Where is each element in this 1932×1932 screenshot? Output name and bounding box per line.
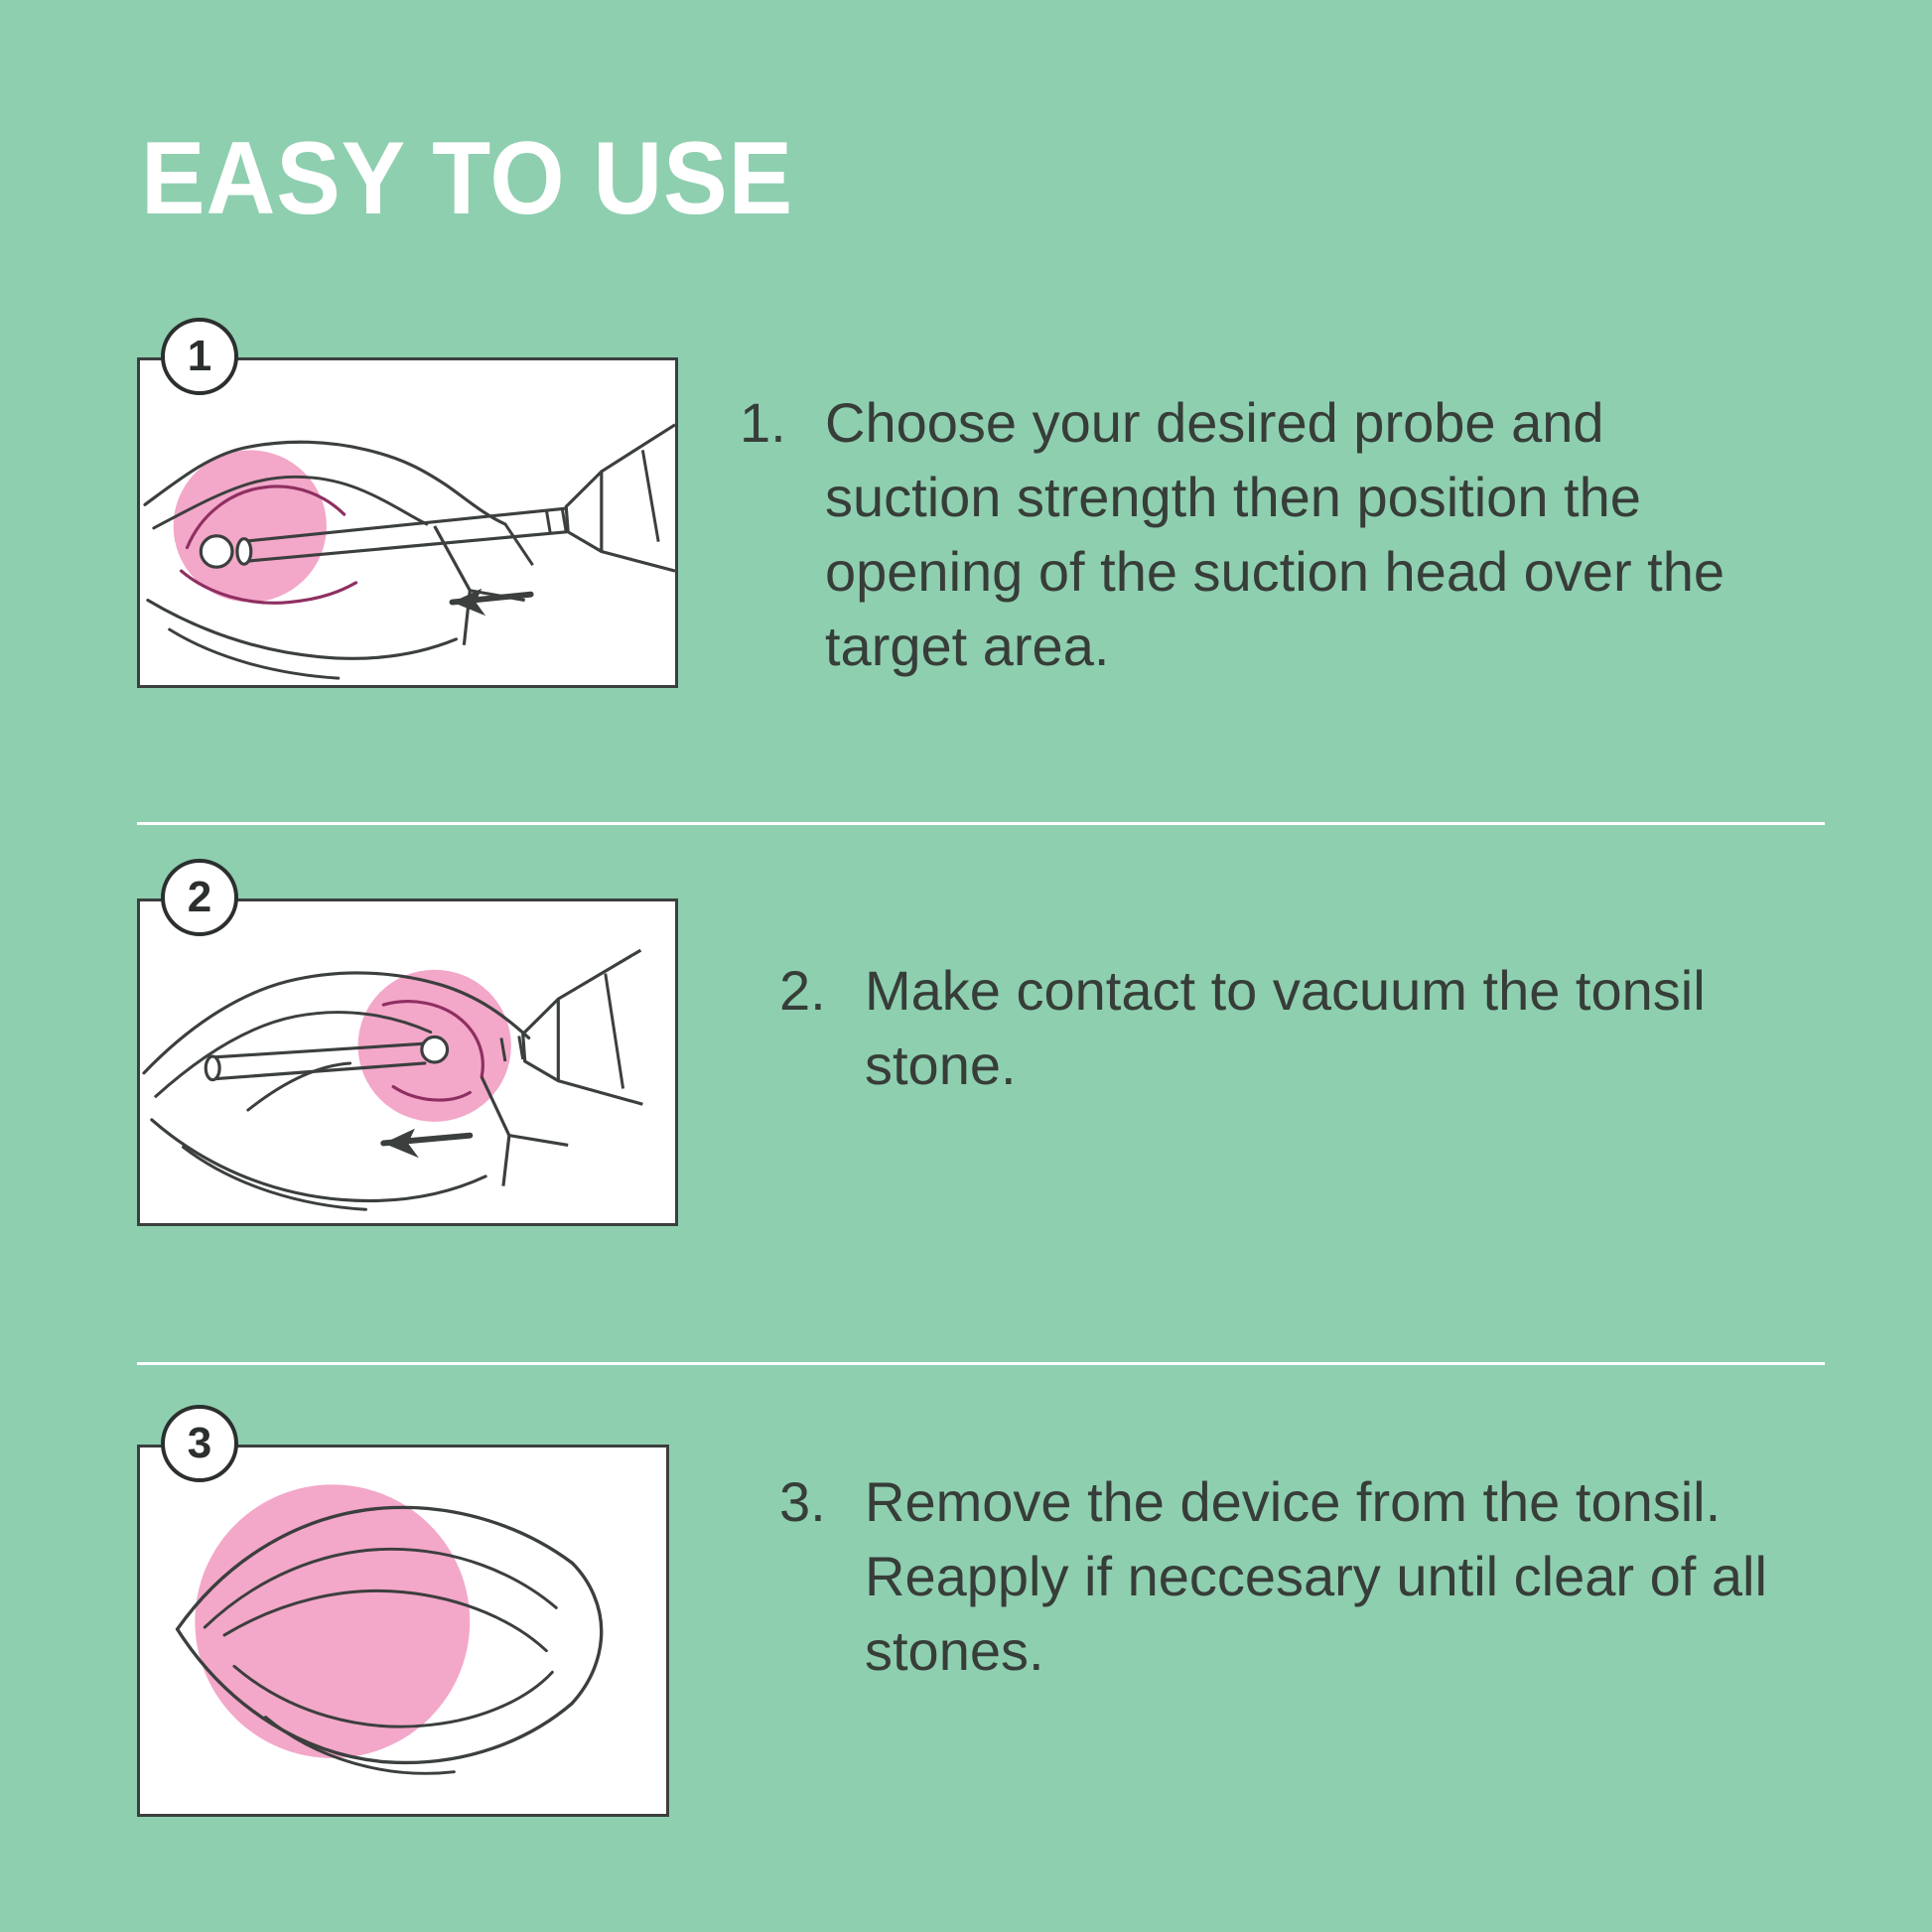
step-row-1: 1 1. Choose your desired probe and sucti…	[0, 357, 1932, 725]
step-1-text: 1. Choose your desired probe and suction…	[740, 385, 1792, 683]
mouth-with-probe-positioned-icon	[140, 360, 675, 685]
step-2-description: Make contact to vacuum the tonsil stone.	[865, 953, 1782, 1102]
direction-arrow-icon	[452, 589, 530, 616]
steps-list: 1 1. Choose your desired probe and sucti…	[0, 0, 1932, 1932]
divider-2	[137, 1362, 1825, 1365]
step-1-badge: 1	[161, 318, 238, 395]
mouth-clear-of-stones-icon	[140, 1448, 666, 1814]
step-2-illustration-panel	[137, 898, 678, 1226]
step-row-2: 2 2. Make contact to vacuum the tonsil s…	[0, 898, 1932, 1266]
step-2-illustration-wrap: 2	[137, 898, 678, 1226]
step-3-marker: 3.	[779, 1464, 865, 1688]
step-1-illustration-wrap: 1	[137, 357, 678, 688]
step-3-description: Remove the device from the tonsil. Reapp…	[865, 1464, 1782, 1688]
step-3-illustration-wrap: 3	[137, 1445, 669, 1817]
step-2-marker: 2.	[779, 953, 865, 1102]
step-1-description: Choose your desired probe and suction st…	[825, 385, 1792, 683]
divider-1	[137, 822, 1825, 825]
step-3-illustration-panel	[137, 1445, 669, 1817]
step-2-text: 2. Make contact to vacuum the tonsil sto…	[779, 953, 1782, 1102]
mouth-with-probe-contacting-tonsil-icon	[140, 901, 675, 1223]
direction-arrow-icon	[383, 1129, 470, 1158]
step-row-3: 3 3. Remove the device from the tonsil. …	[0, 1445, 1932, 1842]
step-3-text: 3. Remove the device from the tonsil. Re…	[779, 1464, 1782, 1688]
step-1-illustration-panel	[137, 357, 678, 688]
step-1-marker: 1.	[740, 385, 825, 683]
step-2-badge: 2	[161, 859, 238, 936]
step-3-badge: 3	[161, 1405, 238, 1482]
